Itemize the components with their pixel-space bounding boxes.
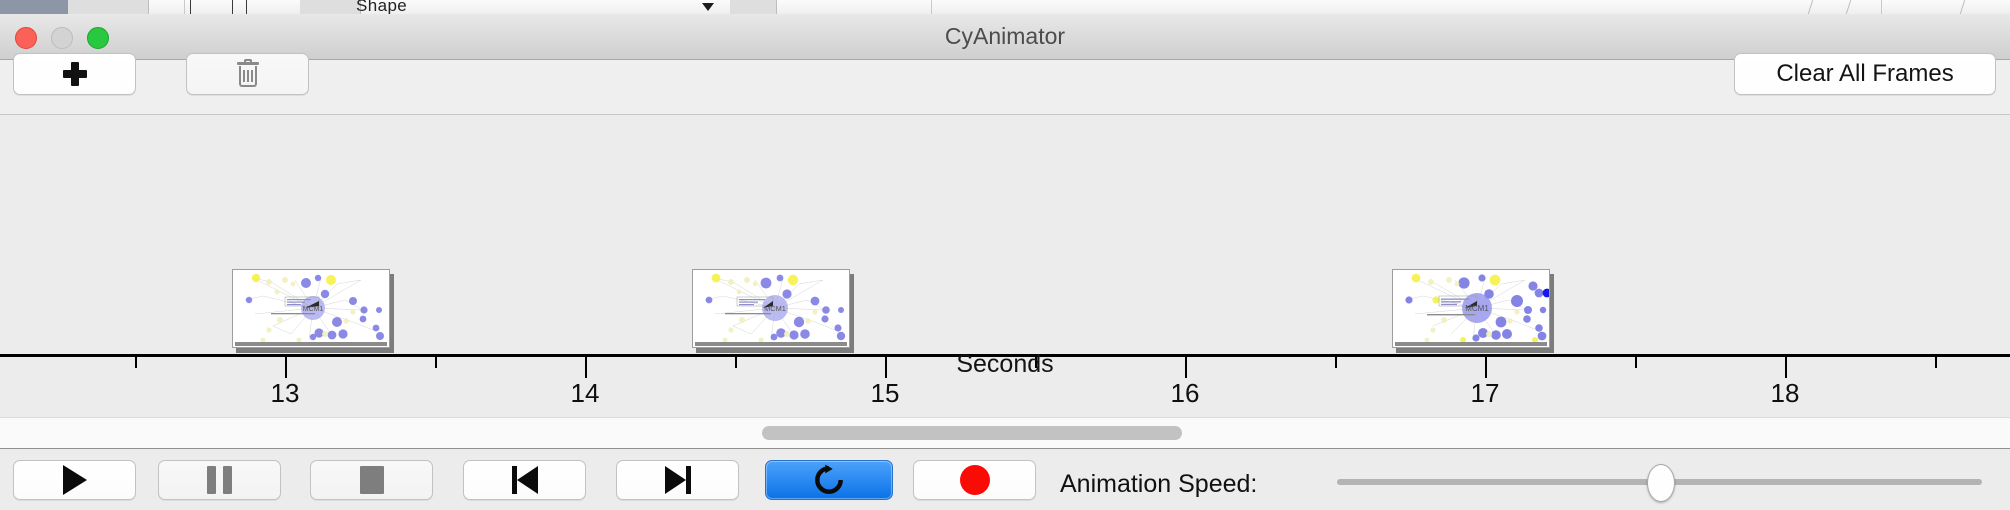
- cyanimator-window: Shape CyAnimator Clear All Frames: [0, 0, 2010, 510]
- background-window-strip: Shape: [0, 0, 2010, 15]
- frame-thumbnail-1[interactable]: MCM1: [232, 269, 394, 351]
- background-cell-f: [1880, 0, 1882, 14]
- plus-icon: [63, 62, 87, 86]
- pause-button[interactable]: [158, 460, 281, 500]
- frame-image: MCM1: [692, 269, 850, 348]
- delete-frame-button[interactable]: [186, 53, 309, 95]
- play-icon: [63, 465, 87, 495]
- axis-tick-label: 14: [571, 378, 600, 409]
- timeline-horizontal-scrollbar[interactable]: [0, 417, 2010, 449]
- skip-previous-icon: [512, 466, 538, 494]
- background-cell-b: [148, 0, 185, 14]
- svg-text:MCM1: MCM1: [303, 306, 324, 313]
- network-graph-thumbnail: MCM1: [693, 270, 849, 347]
- background-window-titlebar-fragment: [0, 0, 68, 14]
- svg-text:MCM1: MCM1: [1465, 304, 1489, 313]
- background-slash-1: [1808, 0, 1814, 14]
- axis-tick-label: 18: [1771, 378, 1800, 409]
- loop-refresh-icon: [812, 463, 846, 497]
- record-circle-icon: [960, 465, 990, 495]
- axis-title-wrap: Seconds: [0, 356, 2010, 357]
- skip-next-button[interactable]: [616, 460, 739, 500]
- frame-image: MCM1: [232, 269, 390, 348]
- axis-tick-label: 17: [1471, 378, 1500, 409]
- background-cell-e: [930, 0, 932, 14]
- background-cell-d: [730, 0, 777, 14]
- axis-tick-label: 15: [871, 378, 900, 409]
- network-graph-thumbnail: MCM1: [1393, 270, 1549, 347]
- playback-control-bar: Animation Speed:: [0, 448, 2010, 510]
- add-frame-button[interactable]: [13, 53, 136, 95]
- speed-slider-thumb[interactable]: [1647, 464, 1675, 502]
- skip-previous-button[interactable]: [463, 460, 586, 500]
- network-graph-thumbnail: MCM1: [233, 270, 389, 347]
- svg-text:MCM1: MCM1: [764, 304, 786, 313]
- timeline-panel[interactable]: MCM1: [0, 115, 2010, 417]
- background-tick-1: [190, 0, 191, 14]
- background-window-label: Shape: [356, 0, 407, 15]
- animation-speed-label: Animation Speed:: [1060, 470, 1257, 499]
- background-tick-3: [246, 0, 247, 14]
- skip-next-icon: [665, 466, 691, 494]
- play-button[interactable]: [13, 460, 136, 500]
- record-button[interactable]: [913, 460, 1036, 500]
- loop-button[interactable]: [765, 460, 893, 500]
- frame-thumbnail-3[interactable]: MCM1: [1392, 269, 1554, 351]
- background-cell-c: [300, 0, 361, 14]
- clear-all-frames-label: Clear All Frames: [1776, 60, 1953, 88]
- clear-all-frames-button[interactable]: Clear All Frames: [1734, 53, 1996, 95]
- background-tick-2: [232, 0, 233, 14]
- background-slash-2: [1846, 0, 1852, 14]
- trash-icon: [237, 62, 259, 87]
- background-caret-icon: [702, 3, 714, 11]
- background-cell-a: [68, 0, 149, 14]
- scrollbar-thumb[interactable]: [762, 426, 1182, 440]
- stop-icon: [360, 466, 384, 494]
- stop-button[interactable]: [310, 460, 433, 500]
- axis-tick-label: 16: [1171, 378, 1200, 409]
- background-slash-3: [1960, 0, 1966, 14]
- frame-image: MCM1: [1392, 269, 1550, 348]
- animation-speed-slider[interactable]: [1337, 479, 1982, 485]
- axis-title: Seconds: [0, 350, 2010, 379]
- pause-icon: [207, 466, 232, 494]
- axis-tick-label: 13: [271, 378, 300, 409]
- frame-thumbnail-2[interactable]: MCM1: [692, 269, 854, 351]
